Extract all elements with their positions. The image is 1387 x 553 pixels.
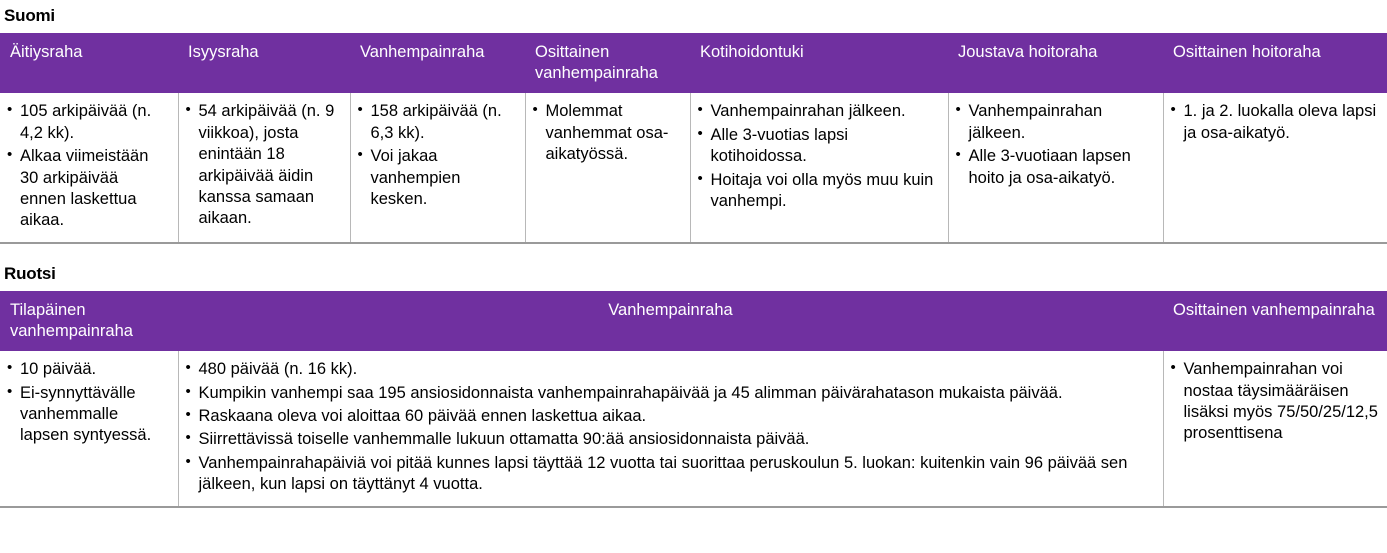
- bullet-list: 480 päivää (n. 16 kk). Kumpikin vanhempi…: [185, 359, 1154, 496]
- section-title-suomi-wrapper: Suomi: [0, 0, 1387, 33]
- column-header-osittainen-vanhempainraha: Osittainen vanhempainraha: [1163, 291, 1387, 351]
- ruotsi-table-body: 10 päivää. Ei-synnyttävälle vanhemmalle …: [0, 351, 1387, 507]
- cell-osittainen-vanhempainraha: Vanhempainrahan voi nostaa täysimääräise…: [1163, 351, 1387, 507]
- column-header-osittainen-hoitoraha: Osittainen hoitoraha: [1163, 33, 1387, 93]
- list-item: Vanhempainrahan voi nostaa täysimääräise…: [1170, 359, 1379, 445]
- list-item: Ei-synnyttävälle vanhemmalle lapsen synt…: [6, 383, 169, 447]
- list-item: 54 arkipäivää (n. 9 viikkoa), josta enin…: [185, 101, 341, 230]
- bullet-list: 158 arkipäivää (n. 6,3 kk). Voi jakaa va…: [357, 101, 516, 210]
- ruotsi-table: Tilapäinen vanhempainraha Vanhempainraha…: [0, 291, 1387, 508]
- section-spacer: [0, 244, 1387, 258]
- cell-joustava-hoitoraha: Vanhempainrahan jälkeen. Alle 3-vuotiaan…: [948, 93, 1163, 243]
- section-title-suomi: Suomi: [4, 6, 55, 25]
- bullet-list: Molemmat vanhemmat osa-aikatyössä.: [532, 101, 681, 165]
- table-header-row: Tilapäinen vanhempainraha Vanhempainraha…: [0, 291, 1387, 351]
- section-title-ruotsi: Ruotsi: [4, 264, 56, 283]
- column-header-joustava-hoitoraha: Joustava hoitoraha: [948, 33, 1163, 93]
- list-item: 158 arkipäivää (n. 6,3 kk).: [357, 101, 516, 144]
- list-item: Vanhempainrahan jälkeen.: [697, 101, 939, 122]
- list-item: Kumpikin vanhempi saa 195 ansiosidonnais…: [185, 383, 1154, 404]
- column-header-kotihoidontuki: Kotihoidontuki: [690, 33, 948, 93]
- cell-osittainen-hoitoraha: 1. ja 2. luokalla oleva lapsi ja osa-aik…: [1163, 93, 1387, 243]
- column-header-tilapainen-vanhempainraha: Tilapäinen vanhempainraha: [0, 291, 178, 351]
- cell-aitiysraha: 105 arkipäivää (n. 4,2 kk). Alkaa viimei…: [0, 93, 178, 243]
- cell-osittainen-vanhempainraha: Molemmat vanhemmat osa-aikatyössä.: [525, 93, 690, 243]
- bullet-list: 10 päivää. Ei-synnyttävälle vanhemmalle …: [6, 359, 169, 447]
- section-title-ruotsi-wrapper: Ruotsi: [0, 258, 1387, 291]
- bullet-list: 105 arkipäivää (n. 4,2 kk). Alkaa viimei…: [6, 101, 169, 232]
- list-item: Hoitaja voi olla myös muu kuin vanhempi.: [697, 170, 939, 213]
- ruotsi-table-header: Tilapäinen vanhempainraha Vanhempainraha…: [0, 291, 1387, 351]
- benefits-comparison-page: Suomi Äitiysraha Isyysraha Vanhempainrah…: [0, 0, 1387, 553]
- list-item: Alle 3-vuotias lapsi kotihoidossa.: [697, 125, 939, 168]
- list-item: Alkaa viimeistään 30 arkipäivää ennen la…: [6, 146, 169, 232]
- list-item: Vanhempainrahan jälkeen.: [955, 101, 1154, 144]
- bullet-list: Vanhempainrahan jälkeen. Alle 3-vuotias …: [697, 101, 939, 212]
- list-item: Raskaana oleva voi aloittaa 60 päivää en…: [185, 406, 1154, 427]
- list-item: 10 päivää.: [6, 359, 169, 380]
- cell-isyysraha: 54 arkipäivää (n. 9 viikkoa), josta enin…: [178, 93, 350, 243]
- list-item: 1. ja 2. luokalla oleva lapsi ja osa-aik…: [1170, 101, 1379, 144]
- suomi-table-header: Äitiysraha Isyysraha Vanhempainraha Osit…: [0, 33, 1387, 93]
- bullet-list: Vanhempainrahan voi nostaa täysimääräise…: [1170, 359, 1379, 445]
- cell-vanhempainraha: 480 päivää (n. 16 kk). Kumpikin vanhempi…: [178, 351, 1163, 507]
- column-header-vanhempainraha: Vanhempainraha: [178, 291, 1163, 351]
- table-header-row: Äitiysraha Isyysraha Vanhempainraha Osit…: [0, 33, 1387, 93]
- cell-vanhempainraha: 158 arkipäivää (n. 6,3 kk). Voi jakaa va…: [350, 93, 525, 243]
- column-header-osittainen-vanhempainraha: Osittainen vanhempainraha: [525, 33, 690, 93]
- list-item: Molemmat vanhemmat osa-aikatyössä.: [532, 101, 681, 165]
- list-item: 480 päivää (n. 16 kk).: [185, 359, 1154, 380]
- list-item: Vanhempainrahapäiviä voi pitää kunnes la…: [185, 453, 1154, 496]
- column-header-isyysraha: Isyysraha: [178, 33, 350, 93]
- list-item: Siirrettävissä toiselle vanhemmalle luku…: [185, 429, 1154, 450]
- column-header-vanhempainraha: Vanhempainraha: [350, 33, 525, 93]
- bullet-list: 1. ja 2. luokalla oleva lapsi ja osa-aik…: [1170, 101, 1379, 144]
- table-row: 10 päivää. Ei-synnyttävälle vanhemmalle …: [0, 351, 1387, 507]
- suomi-table: Äitiysraha Isyysraha Vanhempainraha Osit…: [0, 33, 1387, 244]
- bullet-list: 54 arkipäivää (n. 9 viikkoa), josta enin…: [185, 101, 341, 230]
- cell-kotihoidontuki: Vanhempainrahan jälkeen. Alle 3-vuotias …: [690, 93, 948, 243]
- bullet-list: Vanhempainrahan jälkeen. Alle 3-vuotiaan…: [955, 101, 1154, 189]
- list-item: Voi jakaa vanhempien kesken.: [357, 146, 516, 210]
- list-item: 105 arkipäivää (n. 4,2 kk).: [6, 101, 169, 144]
- table-row: 105 arkipäivää (n. 4,2 kk). Alkaa viimei…: [0, 93, 1387, 243]
- list-item: Alle 3-vuotiaan lapsen hoito ja osa-aika…: [955, 146, 1154, 189]
- cell-tilapainen-vanhempainraha: 10 päivää. Ei-synnyttävälle vanhemmalle …: [0, 351, 178, 507]
- column-header-aitiysraha: Äitiysraha: [0, 33, 178, 93]
- suomi-table-body: 105 arkipäivää (n. 4,2 kk). Alkaa viimei…: [0, 93, 1387, 243]
